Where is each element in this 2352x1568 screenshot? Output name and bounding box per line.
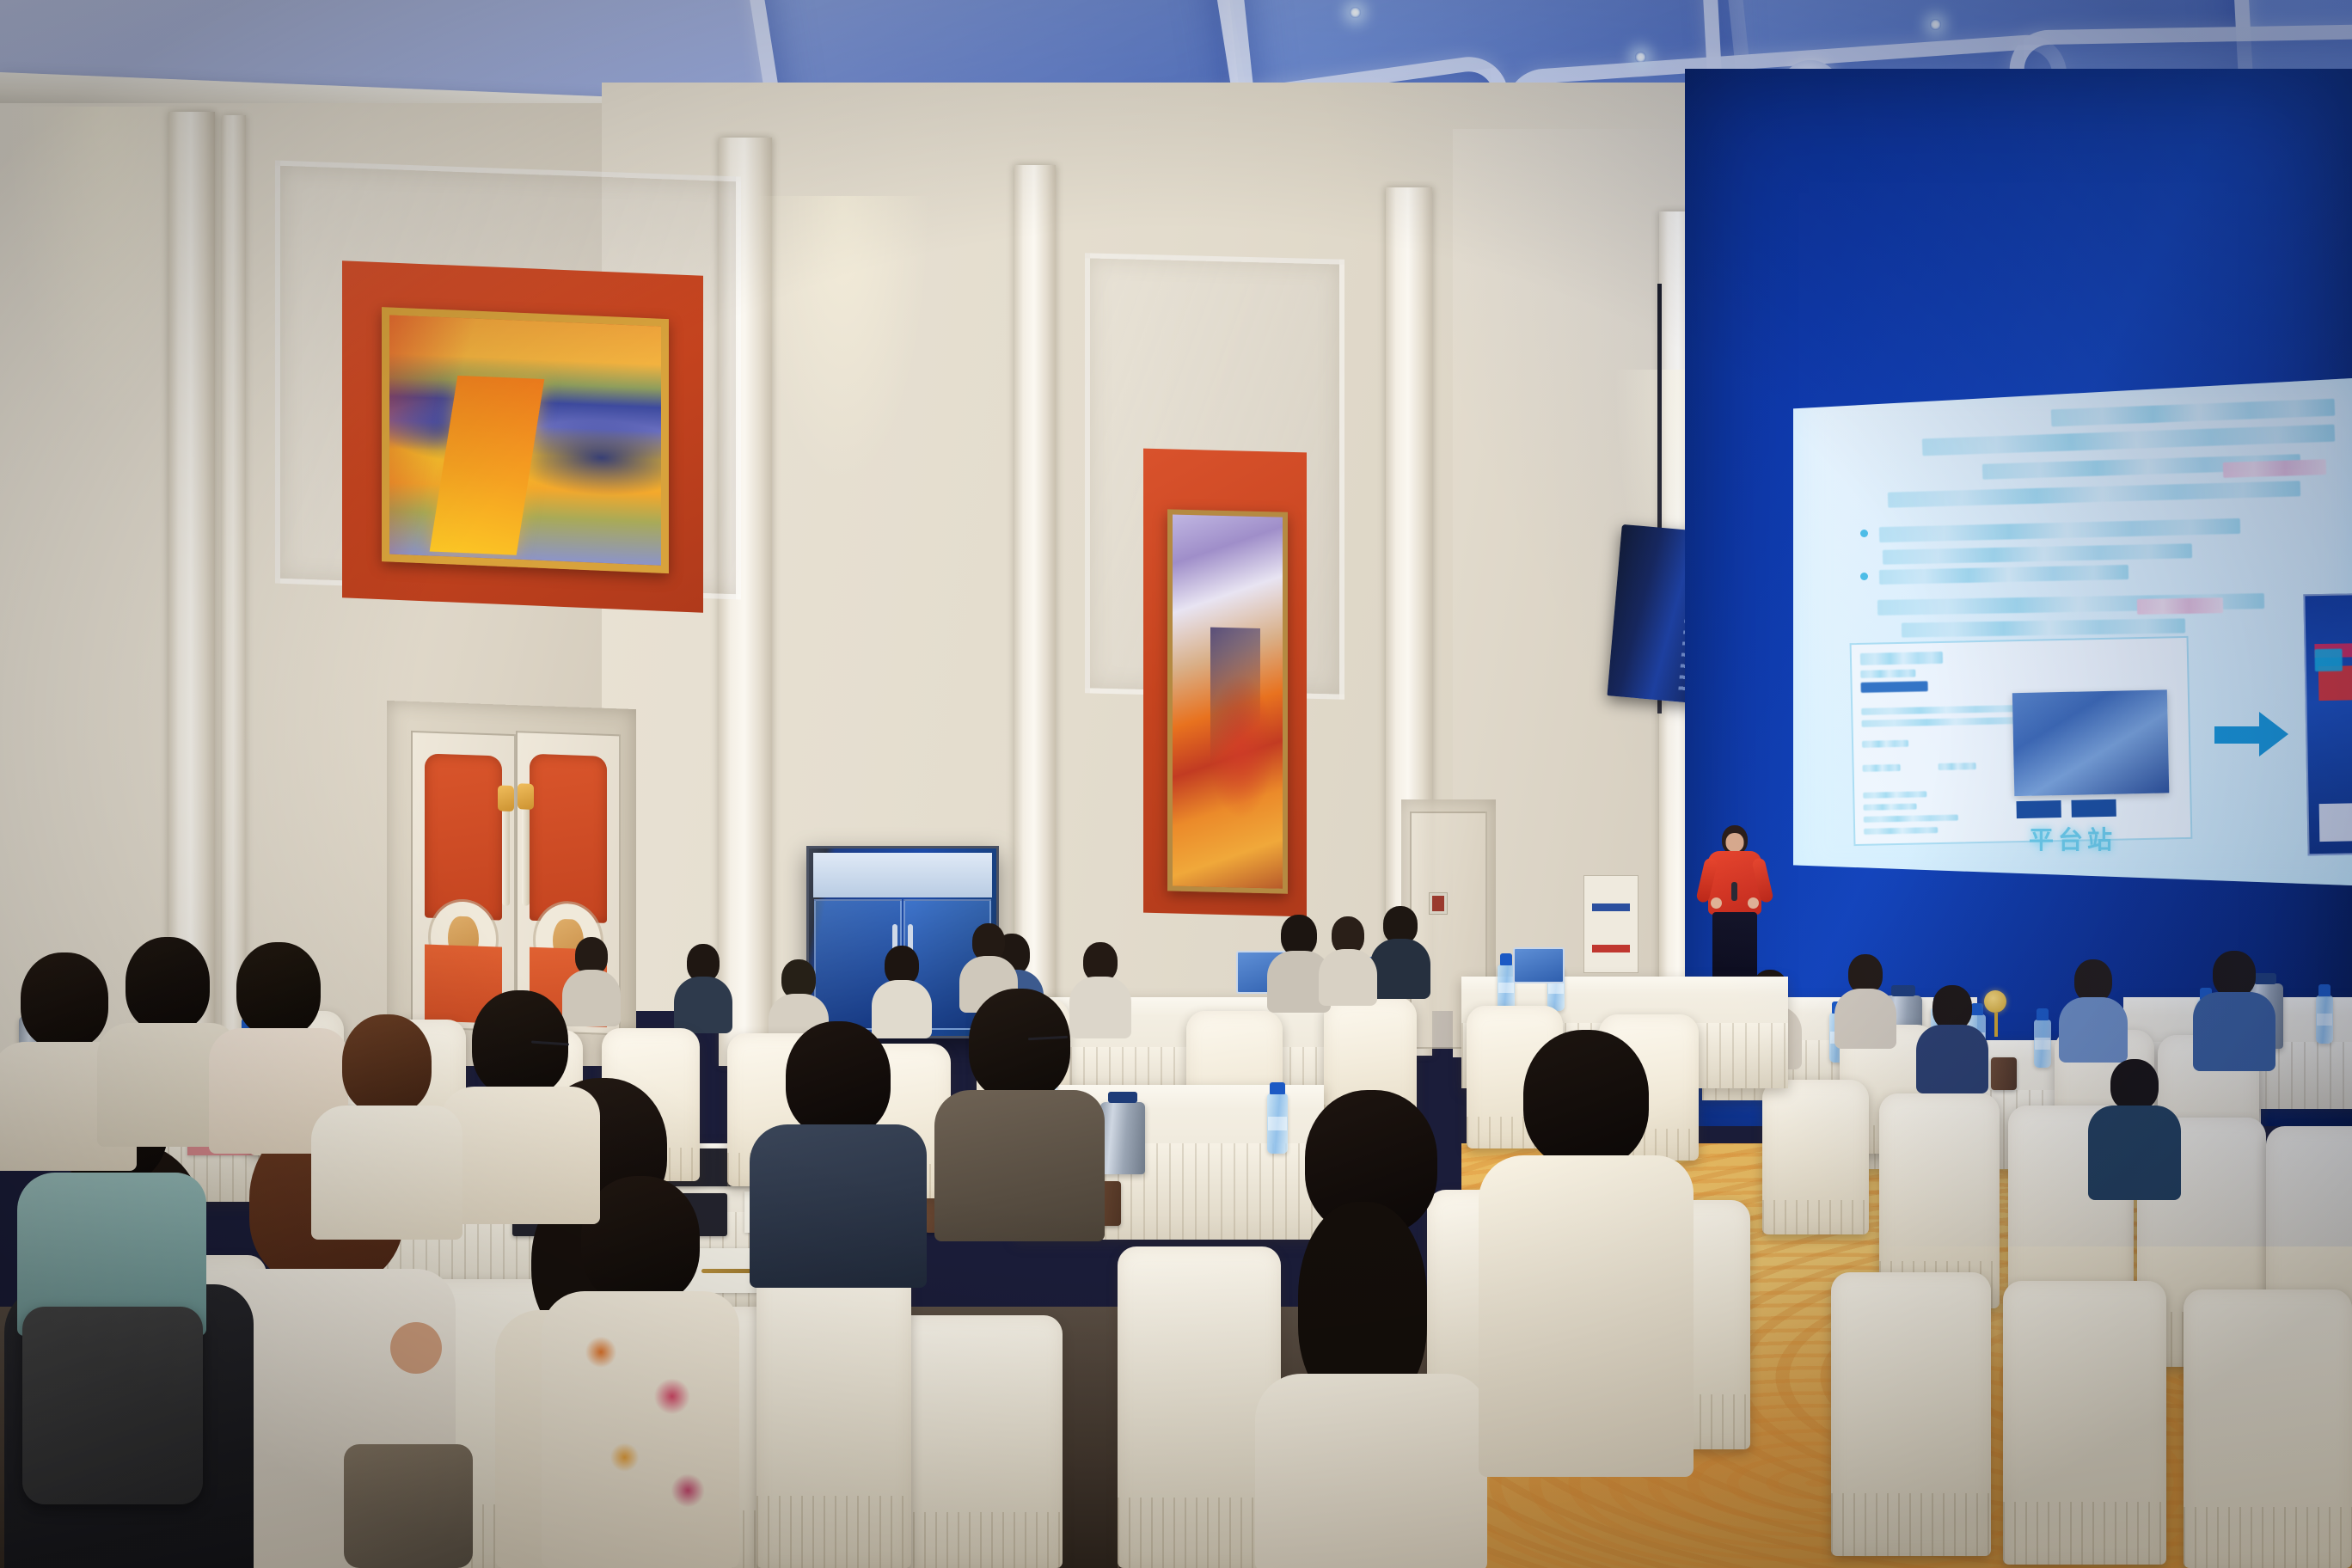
person-head: [236, 942, 321, 1037]
slide-caption: 平台站: [1793, 820, 2352, 856]
audience-member: [942, 989, 1097, 1231]
audience-member: [2201, 951, 2268, 1071]
backpack: [22, 1307, 203, 1504]
slide-blurred-text: [1883, 543, 2192, 565]
audience-member: [2098, 1059, 2171, 1197]
audience-member: [1922, 985, 1982, 1088]
wall-notice-board: [1583, 875, 1638, 973]
audience-member: [2063, 959, 2123, 1063]
person-torso: [1319, 949, 1377, 1006]
handheld-microphone: [1731, 882, 1737, 901]
audience-member: [318, 1014, 456, 1226]
card-blurred-stat: [1863, 764, 1901, 772]
audience-member: [1272, 915, 1326, 1011]
slide-blurred-text: [1902, 618, 2185, 637]
artwork-mat-vertical: [1143, 449, 1307, 917]
banquet-chair: [891, 1315, 1063, 1568]
ceiling-downlight: [1635, 52, 1646, 63]
arrow-head: [2259, 712, 2288, 756]
person-hand: [390, 1322, 442, 1374]
person-head: [342, 1014, 432, 1114]
audience-member: [1324, 916, 1372, 1002]
person-torso: [542, 1291, 739, 1568]
card-meeting-photo: [2012, 689, 2169, 796]
slide-blurred-text: [2223, 459, 2327, 478]
water-bottle: [2034, 1020, 2051, 1068]
presenter-hand-right: [1748, 897, 1759, 909]
audience-member: [1264, 1090, 1479, 1568]
person-torso: [2088, 1106, 2181, 1200]
conference-hall-photo: 平台站: [0, 0, 2352, 1568]
door-panel: [425, 753, 502, 921]
handbag: [344, 1444, 473, 1568]
slide-blurred-text: [2137, 597, 2223, 615]
ceiling-downlight: [1930, 19, 1941, 30]
wall-pilaster-reveal: [222, 115, 246, 1078]
person-torso: [1916, 1025, 1988, 1093]
door-handle-right[interactable]: [522, 804, 530, 905]
person-head: [2213, 951, 2256, 997]
person-head: [786, 1021, 891, 1136]
person-head: [126, 937, 210, 1032]
banquet-chair: [2003, 1281, 2166, 1565]
audience-member: [679, 944, 727, 1030]
painting-vertical-abstract: [1173, 515, 1283, 889]
wall-pilaster: [1014, 165, 1056, 1050]
card-button-primary[interactable]: [2016, 800, 2061, 818]
banquet-chair: [1762, 1080, 1869, 1234]
slide-blurred-text: [1879, 518, 2240, 542]
person-head: [1281, 915, 1317, 956]
cooler-header-panel: [813, 853, 992, 897]
card-tag: [1861, 681, 1928, 693]
audience-member: [447, 990, 593, 1214]
person-torso: [750, 1124, 927, 1288]
presentation-screen: 平台站: [1793, 378, 2352, 885]
door-panel: [530, 754, 607, 923]
audience-member: [1487, 1030, 1685, 1477]
banquet-chair: [2184, 1289, 2352, 1568]
person-torso: [1255, 1374, 1487, 1568]
person-torso: [311, 1106, 462, 1240]
slide-bullet-dot: [1860, 573, 1868, 580]
person-head: [1932, 985, 1972, 1030]
artwork-frame-horizontal: [382, 307, 669, 573]
person-head: [1523, 1030, 1649, 1167]
audience-member: [1840, 954, 1891, 1049]
person-torso: [674, 977, 732, 1033]
slide-blurred-text: [1888, 481, 2300, 507]
fire-safety-sign: [1429, 892, 1448, 915]
presenter-hand-left: [1711, 897, 1722, 909]
person-head: [2110, 1059, 2159, 1111]
card-blurred-meta: [1860, 670, 1915, 678]
presenter-face: [1726, 833, 1744, 852]
painting-horizontal-abstract: [389, 315, 661, 566]
door-handle-left[interactable]: [502, 806, 510, 907]
person-torso: [1479, 1155, 1694, 1477]
person-torso: [2193, 992, 2275, 1071]
audience-member: [550, 1176, 731, 1568]
card-blurred-text: [1861, 705, 2024, 715]
process-arrow: [2214, 712, 2290, 756]
slide-bullet-dot: [1860, 530, 1868, 537]
app-logo-block: [2314, 649, 2342, 672]
person-torso: [1370, 939, 1430, 999]
card-blurred-list: [1864, 804, 1917, 811]
person-head: [21, 952, 108, 1049]
card-blurred-text: [1862, 740, 1908, 748]
card-blurred-stat: [1939, 763, 1976, 770]
card-blurred-title: [1860, 652, 1943, 665]
person-torso: [2059, 997, 2128, 1063]
mobile-app-mockup: [2303, 592, 2352, 856]
tea-cup: [1991, 1057, 2017, 1090]
artwork-frame-vertical: [1167, 509, 1288, 893]
artwork-mat-horizontal: [342, 260, 703, 613]
audience-member: [1375, 906, 1425, 995]
card-button-secondary[interactable]: [2071, 799, 2116, 818]
person-head: [2074, 959, 2112, 1002]
slide-blurred-text: [1922, 425, 2335, 456]
notice-strip-blue: [1592, 903, 1631, 911]
ceiling-downlight: [1350, 7, 1361, 18]
ballroom-door-left[interactable]: [411, 731, 516, 1032]
slide-blurred-text: [2051, 399, 2336, 427]
person-torso: [1834, 989, 1896, 1049]
audience-member: [756, 1021, 920, 1279]
card-blurred-list: [1863, 791, 1926, 799]
laptop[interactable]: [1513, 947, 1565, 983]
person-torso: [440, 1087, 600, 1224]
notice-strip-red: [1592, 945, 1631, 952]
person-head: [969, 989, 1070, 1100]
banquet-chair: [1831, 1272, 1991, 1556]
person-torso: [934, 1090, 1105, 1241]
arrow-shaft: [2214, 726, 2261, 744]
slide-card-left: [1850, 636, 2193, 846]
thermos-flask: [1100, 1102, 1145, 1174]
water-bottle: [1498, 965, 1515, 1011]
slide-blurred-text: [1879, 565, 2128, 585]
table-number-stand: [1984, 990, 2006, 1013]
water-bottle: [2316, 995, 2333, 1044]
